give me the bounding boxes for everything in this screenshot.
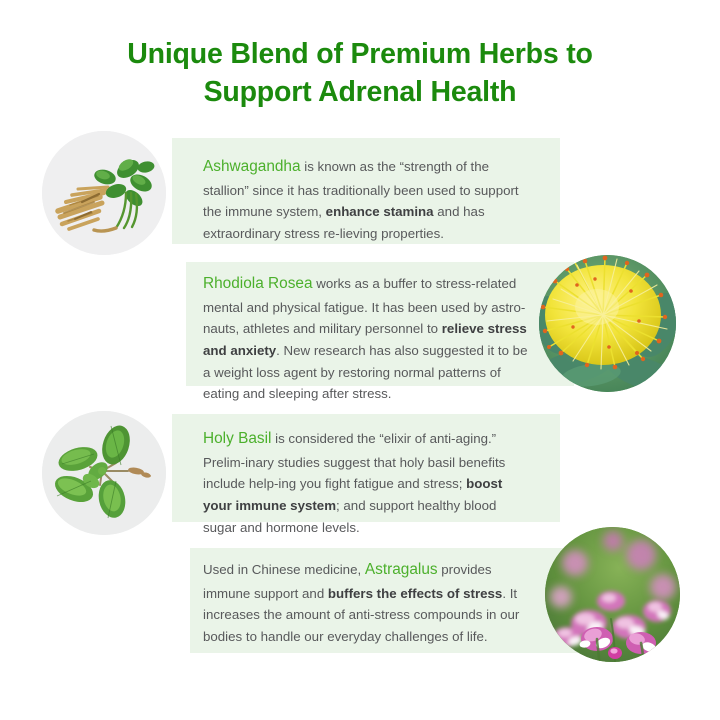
page-title-line-2: Support Adrenal Health: [60, 74, 660, 112]
herb-benefit-emphasis: buffers the effects of stress: [328, 586, 502, 601]
herb-benefit-emphasis: enhance stamina: [326, 204, 434, 219]
herb-name-highlight: Ashwagandha: [203, 158, 301, 175]
astragalus-pink-flowers-icon: [545, 527, 680, 662]
ashwagandha-roots-and-leaves-icon: [42, 131, 166, 255]
herb-image-astragalus: [545, 527, 680, 662]
herb-image-holy-basil: [42, 411, 166, 535]
herb-text-holy-basil: Holy Basil is considered the “elixir of …: [203, 427, 533, 538]
holy-basil-green-leaves-icon: [42, 411, 166, 535]
infographic-page: Unique Blend of Premium Herbs to Support…: [0, 0, 720, 720]
herb-image-rhodiola-rosea: [539, 255, 676, 392]
herb-text-astragalus: Used in Chinese medicine, Astragalus pro…: [203, 558, 526, 648]
herb-text-run: Used in Chinese medicine,: [203, 562, 365, 577]
herb-image-ashwagandha: [42, 131, 166, 255]
herb-name-highlight: Rhodiola Rosea: [203, 275, 313, 292]
herb-text-rhodiola-rosea: Rhodiola Rosea works as a buffer to stre…: [203, 272, 530, 405]
herb-text-ashwagandha: Ashwagandha is known as the “strength of…: [203, 155, 533, 245]
rhodiola-rosea-yellow-flower-icon: [539, 255, 676, 392]
page-title-line-1: Unique Blend of Premium Herbs to: [60, 36, 660, 74]
herb-name-highlight: Astragalus: [365, 561, 438, 578]
herb-name-highlight: Holy Basil: [203, 430, 271, 447]
page-title: Unique Blend of Premium Herbs to Support…: [60, 36, 660, 112]
